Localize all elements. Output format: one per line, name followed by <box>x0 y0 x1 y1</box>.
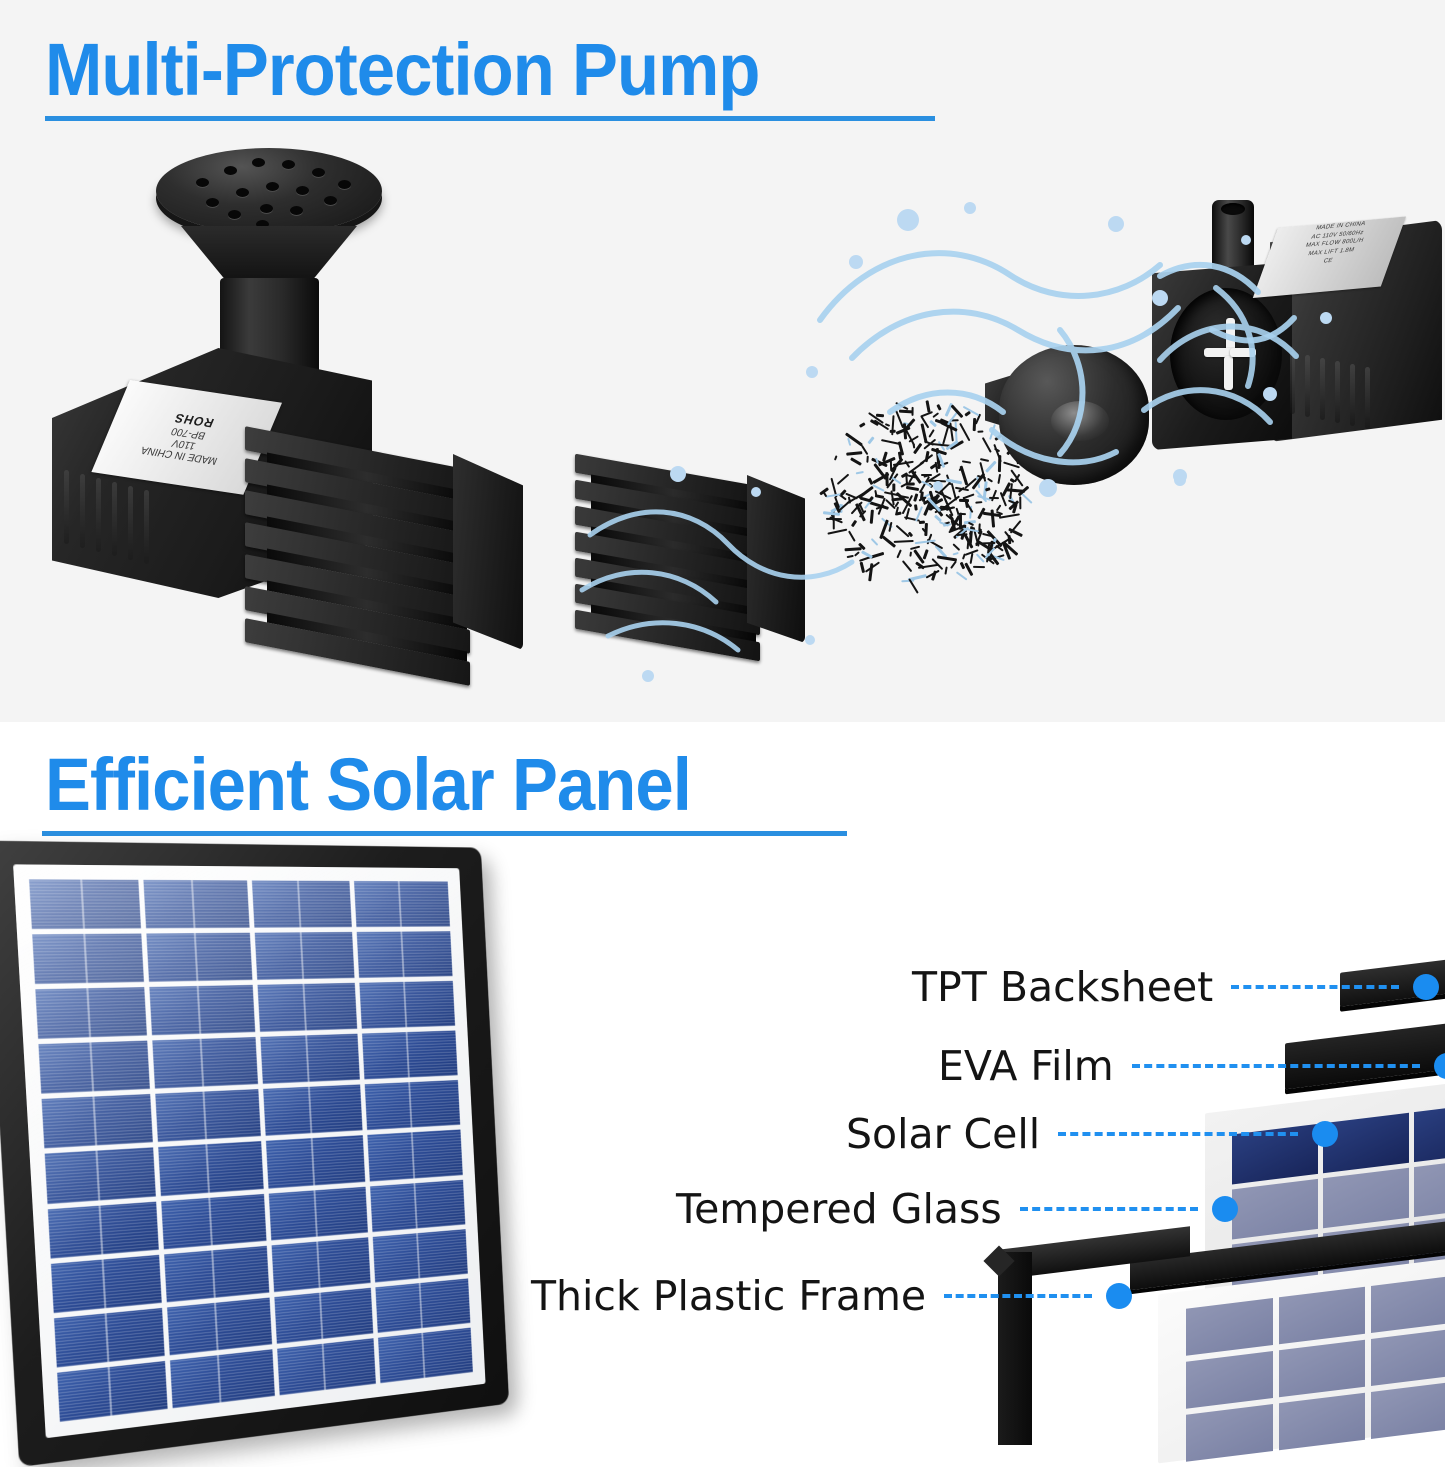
solar-cell <box>155 1090 260 1143</box>
solar-cell <box>251 881 352 928</box>
solar-cell <box>271 1237 371 1292</box>
mesh-strand <box>962 461 971 464</box>
mesh-strand <box>965 562 974 576</box>
solar-cell <box>378 1328 473 1384</box>
mesh-strand <box>868 436 875 444</box>
solar-cell <box>260 1034 360 1084</box>
mesh-strand <box>937 556 957 562</box>
leader-line <box>1058 1132 1298 1136</box>
callout-label: Tempered Glass <box>676 1185 1002 1233</box>
mesh-strand <box>871 538 879 546</box>
leader-dot <box>1434 1053 1445 1079</box>
pump-body-ribs <box>58 466 176 576</box>
mesh-strand <box>866 456 869 463</box>
mesh-strand <box>919 521 925 524</box>
mesh-strand <box>928 428 935 437</box>
solar-cell <box>167 1297 272 1355</box>
mesh-strand <box>828 529 848 535</box>
mesh-strand <box>914 505 918 511</box>
solar-cell <box>149 985 255 1035</box>
mesh-strand <box>977 430 983 432</box>
mesh-strand <box>920 411 933 418</box>
mesh-strand <box>860 562 865 573</box>
solar-section-heading: Efficient Solar Panel <box>45 748 691 822</box>
solar-cell <box>365 1080 460 1130</box>
callout-eva-film: EVA Film <box>938 1042 1445 1090</box>
filter-cage <box>245 448 530 693</box>
solar-cell <box>376 1278 471 1333</box>
solar-cell <box>354 881 450 927</box>
solar-cell <box>143 880 249 929</box>
mesh-strand <box>923 549 929 559</box>
mesh-strand <box>906 483 915 486</box>
pump-section-heading: Multi-Protection Pump <box>45 33 760 107</box>
mesh-strand <box>836 474 849 486</box>
mesh-strand <box>973 566 985 568</box>
solar-cell <box>29 879 141 929</box>
mesh-strand <box>892 484 895 492</box>
mesh-strand <box>895 525 909 538</box>
solar-cell <box>368 1130 463 1181</box>
mesh-strand <box>952 544 959 551</box>
mesh-strand <box>911 407 914 416</box>
mesh-strand <box>973 418 977 431</box>
leader-line <box>1020 1207 1198 1211</box>
solar-cell <box>277 1338 376 1395</box>
mesh-strand <box>876 414 884 417</box>
leader-dot <box>1106 1283 1132 1309</box>
infographic-page: Multi-Protection Pump <box>0 0 1445 1445</box>
solar-cell <box>164 1246 269 1303</box>
mesh-strand <box>950 560 957 568</box>
mesh-strand <box>896 511 902 515</box>
mesh-strand <box>956 571 968 581</box>
mesh-strand <box>913 493 918 501</box>
mesh-strand <box>975 501 982 504</box>
mesh-strand <box>902 560 913 572</box>
mesh-strand <box>989 497 999 499</box>
callout-tpt-backsheet: TPT Backsheet <box>912 963 1439 1011</box>
solar-cell <box>268 1186 368 1240</box>
mesh-strand <box>826 517 842 519</box>
mesh-strand <box>964 411 970 417</box>
solar-cell <box>161 1194 266 1249</box>
callout-thick-plastic-frame: Thick Plastic Frame <box>531 1272 1132 1320</box>
mesh-strand <box>846 451 862 456</box>
mesh-strand <box>833 455 837 461</box>
mesh-strand <box>1019 497 1021 510</box>
mesh-strand <box>945 566 948 575</box>
panel-backing <box>13 864 486 1438</box>
mesh-strand <box>897 549 902 558</box>
solar-cell <box>42 1094 153 1148</box>
solar-cell <box>360 981 455 1029</box>
mesh-strand <box>938 482 950 494</box>
mesh-strand <box>848 530 856 541</box>
solar-cell <box>158 1142 263 1196</box>
mesh-strand <box>894 539 914 542</box>
solar-cell <box>38 1041 149 1094</box>
solar-cell <box>362 1031 457 1080</box>
mesh-strand <box>924 523 927 536</box>
mesh-strand <box>932 412 939 418</box>
nozzle-head-icon <box>156 148 382 234</box>
mesh-strand <box>854 551 860 556</box>
mesh-strand <box>861 445 869 456</box>
callout-label: EVA Film <box>938 1042 1114 1090</box>
solar-cell <box>254 932 355 980</box>
leader-dot <box>1312 1121 1338 1147</box>
mesh-strand <box>991 490 997 502</box>
solar-cell <box>32 934 144 985</box>
solar-cell <box>146 933 252 982</box>
mesh-strand <box>845 547 862 551</box>
pump-heading-underline <box>45 116 935 121</box>
mesh-strand <box>875 490 878 496</box>
solar-cell <box>373 1229 468 1282</box>
mesh-strand <box>925 400 930 413</box>
mesh-strand <box>850 457 862 466</box>
leader-line <box>944 1294 1092 1298</box>
callout-tempered-glass: Tempered Glass <box>676 1185 1238 1233</box>
callout-solar-cell: Solar Cell <box>846 1110 1338 1158</box>
mesh-strand <box>859 422 866 427</box>
exploded-filter-cage <box>575 470 825 700</box>
solar-cell <box>263 1085 363 1136</box>
pump-section: Multi-Protection Pump <box>0 0 1445 722</box>
layer-plastic-frame <box>980 1238 1190 1445</box>
leader-line <box>1231 985 1399 989</box>
solar-heading-underline <box>42 831 847 836</box>
mesh-strand <box>851 520 857 527</box>
callout-label: Thick Plastic Frame <box>531 1272 926 1320</box>
solar-cell <box>257 983 357 1032</box>
pump-end-cap <box>985 345 1160 490</box>
mesh-strand <box>1021 492 1033 504</box>
exploded-pump-body: MADE IN CHINA AC 110V 50/60Hz MAX FLOW 8… <box>1152 200 1442 470</box>
impeller-icon <box>1204 318 1256 394</box>
mesh-strand <box>847 555 854 559</box>
nozzle-skirt <box>181 226 357 286</box>
leader-line <box>1132 1064 1420 1068</box>
solar-cell <box>265 1136 365 1189</box>
solar-cell <box>48 1201 159 1258</box>
mesh-strand <box>936 404 941 411</box>
mesh-strand <box>856 471 864 474</box>
solar-cell <box>54 1308 164 1368</box>
solar-cell <box>357 931 453 978</box>
mesh-strand <box>960 423 971 441</box>
mesh-strand <box>962 553 966 559</box>
callout-label: TPT Backsheet <box>912 963 1213 1011</box>
assembled-pump-image: MADE IN CHINA 110V BP-700 ROHS <box>52 148 562 693</box>
solar-cell <box>370 1179 465 1231</box>
mesh-strand <box>905 486 919 491</box>
layer-lower-cells <box>1186 1275 1445 1461</box>
solar-cell <box>274 1288 374 1344</box>
mesh-strand <box>869 510 873 524</box>
solar-cell <box>152 1037 258 1089</box>
callout-label: Solar Cell <box>846 1110 1040 1158</box>
mesh-strand <box>895 401 908 409</box>
mesh-strand <box>952 552 958 555</box>
solar-panel-image <box>0 841 509 1467</box>
leader-dot <box>1413 974 1439 1000</box>
mesh-strand <box>909 551 912 556</box>
leader-dot <box>1212 1196 1238 1222</box>
solar-cell <box>35 987 146 1039</box>
mesh-strand <box>922 497 925 502</box>
mesh-strand <box>990 509 994 527</box>
panel-cell-grid <box>29 879 473 1422</box>
